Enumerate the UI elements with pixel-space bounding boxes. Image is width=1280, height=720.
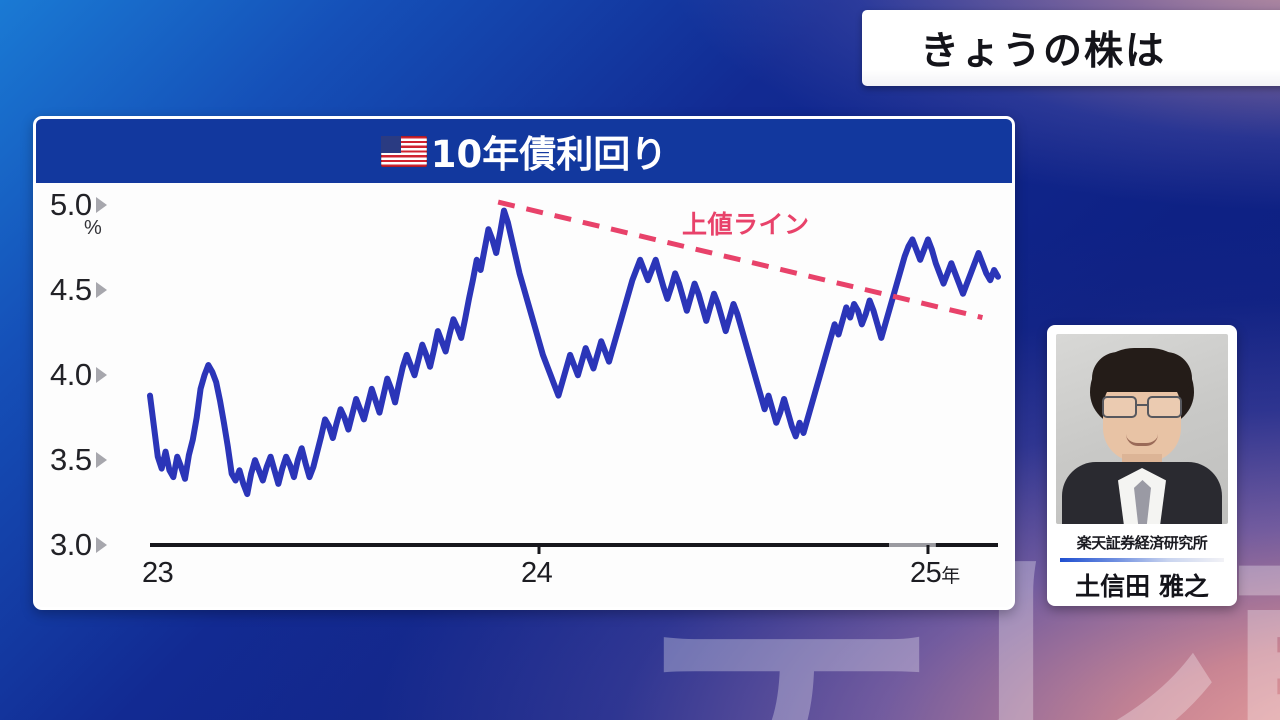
y-axis-tick-label: 3.0 <box>50 527 92 563</box>
x-axis-year-suffix: 年 <box>941 566 960 587</box>
card-divider <box>1060 558 1224 562</box>
chart-title-bar: 10年債利回り <box>36 119 1012 183</box>
chart-plot-area: 3.03.54.04.55.0% 232425年 上値ライン <box>36 183 1012 607</box>
y-axis-tick-marker-icon <box>96 197 107 213</box>
portrait-fringe <box>1092 352 1192 392</box>
y-axis-tick-4.5: 4.5 <box>50 272 107 308</box>
chart-title: 10年債利回り <box>431 124 668 178</box>
y-axis-tick-4.0: 4.0 <box>50 357 107 393</box>
y-axis-unit-label: % <box>84 217 102 240</box>
commentator-name: 土信田 雅之 <box>1075 567 1209 603</box>
y-axis-tick-marker-icon <box>96 367 107 383</box>
x-axis-tick-25: 25年 <box>910 557 960 590</box>
y-axis-tick-label: 4.0 <box>50 357 92 393</box>
y-axis-tick-label: 3.5 <box>50 442 92 478</box>
portrait-glasses-icon <box>1102 396 1182 414</box>
y-axis-tick-marker-icon <box>96 537 107 553</box>
program-segment-title: きょうの株は <box>920 20 1166 76</box>
x-axis-tick-23: 23 <box>142 557 173 590</box>
commentator-card: 楽天証券経済研究所 土信田 雅之 <box>1047 325 1237 606</box>
us-flag-icon <box>381 136 427 167</box>
program-segment-banner: きょうの株は <box>862 10 1280 86</box>
y-axis-labels: 3.03.54.04.55.0% <box>36 183 1012 607</box>
broadcast-screen: テレ朝 きょうの株は 10年債利回り 3.03.54.04.55.0% 2324… <box>0 0 1280 720</box>
y-axis-tick-label: 4.5 <box>50 272 92 308</box>
commentator-photo <box>1056 334 1228 524</box>
y-axis-tick-3.5: 3.5 <box>50 442 107 478</box>
x-axis-tick-24: 24 <box>521 557 552 590</box>
chart-panel: 10年債利回り 3.03.54.04.55.0% 232425年 上値ライン <box>33 116 1015 610</box>
commentator-organization: 楽天証券経済研究所 <box>1077 532 1208 553</box>
y-axis-tick-marker-icon <box>96 452 107 468</box>
resistance-line-label: 上値ライン <box>682 205 810 241</box>
y-axis-tick-3.0: 3.0 <box>50 527 107 563</box>
y-axis-tick-marker-icon <box>96 282 107 298</box>
